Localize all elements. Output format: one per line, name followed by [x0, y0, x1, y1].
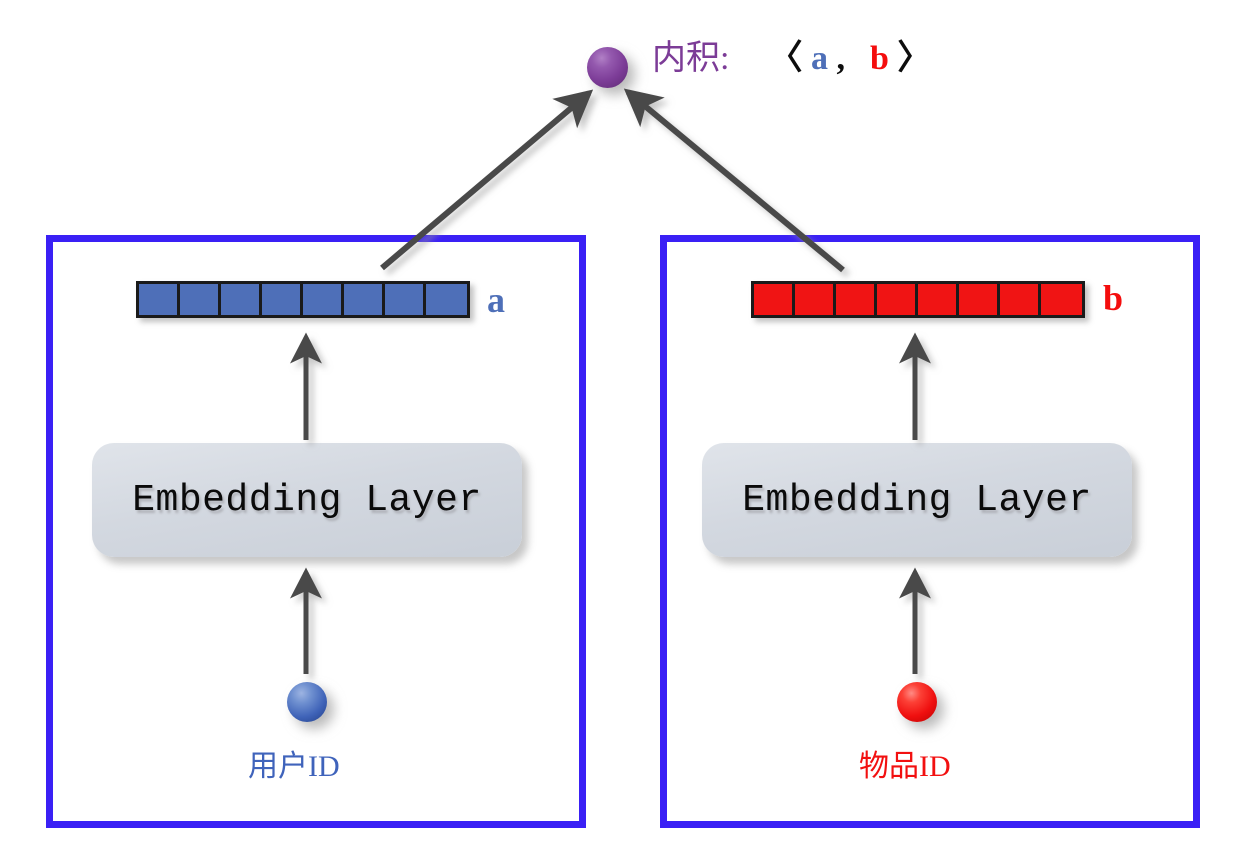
vector-cell — [1041, 284, 1082, 315]
vector-cell — [385, 284, 426, 315]
vector-cell — [1000, 284, 1041, 315]
red-sphere-icon — [897, 682, 937, 722]
item-embedding-layer-box: Embedding Layer — [702, 443, 1132, 557]
title-comma: , — [836, 40, 845, 77]
vector-cell — [303, 284, 344, 315]
vector-cell — [959, 284, 1000, 315]
vector-cell — [426, 284, 467, 315]
embedding-vector-a — [136, 281, 470, 318]
embedding-vector-b — [751, 281, 1085, 318]
vector-cell — [180, 284, 221, 315]
purple-sphere-icon — [587, 47, 628, 88]
vector-b-label: b — [1103, 280, 1123, 316]
vector-cell — [262, 284, 303, 315]
user-id-caption: 用户ID — [248, 752, 340, 782]
vector-a-label: a — [487, 282, 505, 318]
diagram-canvas: 内积: 〈 a , b 〉 a b Embedding Layer — [0, 0, 1250, 843]
vector-cell — [918, 284, 959, 315]
item-id-caption: 物品ID — [859, 752, 951, 782]
inner-product-title: 内积: 〈 a , b 〉 — [652, 42, 931, 76]
blue-sphere-icon — [287, 682, 327, 722]
user-embedding-layer-label: Embedding Layer — [132, 479, 482, 522]
vector-cell — [754, 284, 795, 315]
title-symbol-b: b — [870, 40, 889, 77]
vector-cell — [836, 284, 877, 315]
vector-cell — [344, 284, 385, 315]
vector-cell — [139, 284, 180, 315]
title-symbol-a: a — [811, 40, 828, 77]
vector-cell — [221, 284, 262, 315]
bracket-open: 〈 — [768, 40, 802, 77]
vector-cell — [877, 284, 918, 315]
inner-product-label: 内积: — [652, 40, 729, 77]
user-embedding-layer-box: Embedding Layer — [92, 443, 522, 557]
item-embedding-layer-label: Embedding Layer — [742, 479, 1092, 522]
vector-cell — [795, 284, 836, 315]
bracket-close: 〉 — [897, 40, 931, 77]
